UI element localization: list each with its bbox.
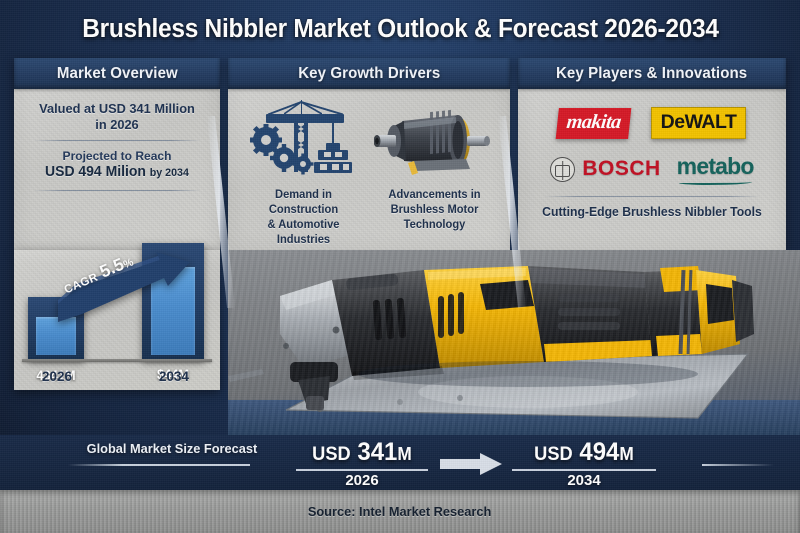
driver-caption-construction: Demand in Construction & Automotive Indu… <box>241 187 367 247</box>
overview-divider-2 <box>33 190 201 191</box>
driver-item-motor: Advancements in Brushless Motor Technolo… <box>369 97 500 250</box>
market-size-bar-chart: 4341M $44M CAGR 5.5% 2026 2034 <box>14 250 220 390</box>
page-title: Brushless Nibbler Market Outlook & Forec… <box>82 15 718 44</box>
right-arrow-icon <box>440 453 502 475</box>
projected-value-text: USD 494 Milion <box>45 164 146 180</box>
forecast-end-currency: USD <box>534 444 573 465</box>
x-tick-2026: 2026 <box>25 368 88 384</box>
forecast-end-value: 494 <box>579 438 619 466</box>
driver-item-construction: Demand in Construction & Automotive Indu… <box>238 97 369 250</box>
forecast-start-currency: USD <box>312 444 351 465</box>
panel-title-growth-drivers: Key Growth Drivers <box>298 65 440 83</box>
forecast-end-figure: USD 494M 2034 <box>512 438 656 489</box>
projected-value-line: USD 494 Milion by 2034 <box>27 164 207 180</box>
panel-title-key-players: Key Players & Innovations <box>556 65 747 83</box>
band-label: Global Market Size Forecast <box>87 441 258 456</box>
forecast-start-amount: USD 341M <box>299 438 426 467</box>
bosch-wordmark: BOSCH <box>582 157 660 181</box>
panel-row: Market Overview Valued at USD 341 Millio… <box>0 58 800 250</box>
bosch-logo: BOSCH <box>550 157 660 182</box>
forecast-end-amount: USD 494M <box>515 438 653 467</box>
forecast-start-rule <box>296 469 428 471</box>
forecast-start-figure: USD 341M 2026 <box>296 438 428 489</box>
panel-key-players: Key Players & Innovations makita DeWALT … <box>518 58 786 250</box>
logo-row-2: BOSCH metabo <box>528 153 776 185</box>
driver-caption-line1: Demand in Construction <box>269 188 338 216</box>
panel-growth-drivers: Key Growth Drivers <box>228 58 510 250</box>
bosch-armature-icon <box>550 157 575 182</box>
forecast-start-value: 341 <box>357 438 397 466</box>
band-rule-left <box>68 464 250 466</box>
metabo-wordmark: metabo <box>677 153 754 180</box>
panel-body-market-overview: Valued at USD 341 Million in 2026 Projec… <box>14 89 220 250</box>
makita-logo: makita <box>555 108 631 139</box>
forecast-band: Global Market Size Forecast USD 341M 202… <box>0 435 800 490</box>
metabo-logo: metabo <box>677 153 754 185</box>
players-caption: Cutting-Edge Brushless Nibbler Tools <box>532 205 773 219</box>
chart-baseline-axis <box>22 359 212 362</box>
title-bar: Brushless Nibbler Market Outlook & Forec… <box>0 0 800 58</box>
brushless-motor-icon <box>374 99 496 185</box>
construction-crane-gears-icon <box>248 99 360 185</box>
panel-market-overview: Market Overview Valued at USD 341 Millio… <box>14 58 220 250</box>
panel-title-market-overview: Market Overview <box>57 65 178 83</box>
panel-header-growth-drivers: Key Growth Drivers <box>228 58 510 89</box>
forecast-end-suffix: M <box>619 444 633 464</box>
x-tick-2034: 2034 <box>138 368 211 384</box>
panel-body-key-players: makita DeWALT BOSCH metabo Cutting-Edge … <box>518 89 786 250</box>
source-text: Source: Intel Market Research <box>308 504 491 519</box>
panel-header-market-overview: Market Overview <box>14 58 220 89</box>
band-rule-right <box>702 464 774 466</box>
dewalt-logo: DeWALT <box>651 107 747 139</box>
driver-caption-line1: Advancements in <box>388 188 480 201</box>
driver-caption-line2: & Automotive Industries <box>268 218 340 246</box>
overview-divider-1 <box>33 140 201 141</box>
valued-line: Valued at USD 341 Million in 2026 <box>27 101 207 133</box>
infographic-canvas: Brushless Nibbler Market Outlook & Forec… <box>0 0 800 533</box>
forecast-start-suffix: M <box>397 444 411 464</box>
panel-body-growth-drivers: Demand in Construction & Automotive Indu… <box>228 89 510 250</box>
footer-bar: Source: Intel Market Research <box>0 490 800 533</box>
forecast-end-year: 2034 <box>512 472 656 489</box>
driver-caption-motor: Advancements in Brushless Motor Technolo… <box>372 187 498 232</box>
panel-header-key-players: Key Players & Innovations <box>518 58 786 89</box>
valued-amount-text: Valued at USD 341 Million <box>39 101 195 116</box>
forecast-start-year: 2026 <box>296 472 428 489</box>
players-divider <box>544 196 760 197</box>
logo-row-1: makita DeWALT <box>528 107 776 139</box>
driver-caption-line2: Brushless Motor Technology <box>391 203 479 231</box>
forecast-end-rule <box>512 469 656 471</box>
valued-year-text: in 2026 <box>95 117 138 132</box>
projected-label: Projected to Reach <box>27 149 207 163</box>
metabo-swoosh-icon <box>679 180 752 185</box>
cagr-arrow-annotation: CAGR 5.5% <box>56 252 196 324</box>
projected-suffix-text: by 2034 <box>150 167 189 179</box>
